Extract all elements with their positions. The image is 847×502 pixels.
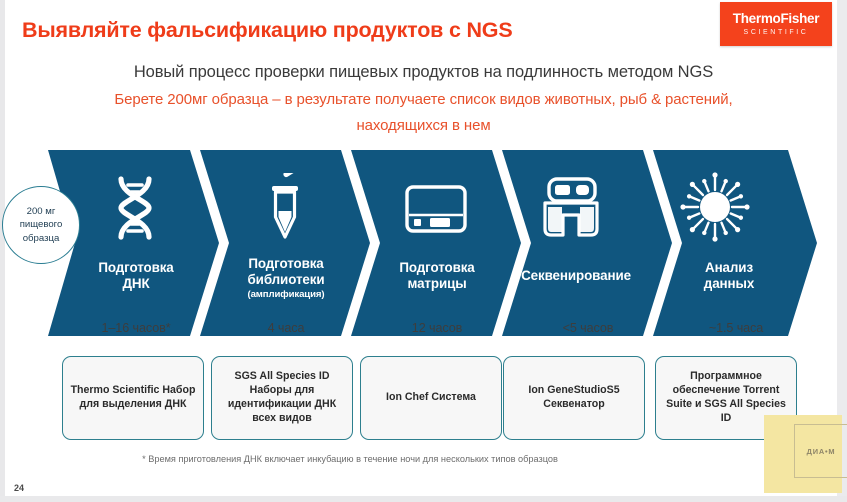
product-box-2[interactable]: SGS All Species ID Наборы для идентифика… bbox=[211, 356, 353, 440]
step-4-icon-wrap bbox=[534, 170, 608, 246]
test-tube-icon bbox=[263, 173, 307, 243]
lead-text-line-1: Берете 200мг образца – в результате полу… bbox=[0, 91, 847, 108]
step-1-label: Подготовка ДНК bbox=[76, 260, 196, 292]
step-1-label-line-1: Подготовка bbox=[98, 260, 173, 275]
watermark-text: ДИА•М bbox=[807, 447, 836, 456]
step-2-icon-wrap bbox=[252, 170, 318, 246]
step-3-label-line-2: матрицы bbox=[407, 276, 466, 291]
page-title: Выявляйте фальсификацию продуктов с NGS bbox=[22, 18, 512, 43]
step-5-label-line-2: данных bbox=[704, 276, 754, 291]
footnote: * Время приготовления ДНК включает инкуб… bbox=[0, 454, 700, 464]
step-2-label: Подготовка библиотеки (амплификация) bbox=[221, 256, 351, 300]
product-box-3[interactable]: Ion Chef Система bbox=[360, 356, 502, 440]
step-1-duration: 1–16 часов* bbox=[68, 321, 204, 335]
subtitle: Новый процесс проверки пищевых продуктов… bbox=[0, 63, 847, 82]
step-3-icon-wrap bbox=[400, 176, 472, 242]
dna-helix-icon bbox=[109, 175, 161, 241]
step-4-label: Секвенирование bbox=[506, 268, 646, 284]
page-number: 24 bbox=[14, 483, 24, 493]
sample-amount-badge: 200 мг пищевого образца bbox=[2, 186, 80, 264]
product-box-1-text: Thermo Scientific Набор для выделения ДН… bbox=[68, 384, 198, 412]
step-2-label-line-2: библиотеки bbox=[248, 272, 325, 287]
step-2-duration: 4 часа bbox=[218, 321, 354, 335]
chip-instrument-icon bbox=[405, 185, 467, 233]
step-2-label-sub: (амплификация) bbox=[221, 289, 351, 300]
step-5-duration: ~1.5 часа bbox=[668, 321, 804, 335]
product-box-2-text: SGS All Species ID Наборы для идентифика… bbox=[217, 370, 347, 426]
badge-line-1: 200 мг bbox=[27, 206, 56, 217]
slide-edge-bottom bbox=[0, 496, 847, 502]
step-5-label: Анализ данных bbox=[668, 260, 790, 292]
thermofisher-logo: ThermoFisher SCIENTIFIC bbox=[720, 2, 832, 46]
step-1-label-line-2: ДНК bbox=[122, 276, 149, 291]
step-4-duration: <5 часов bbox=[520, 321, 656, 335]
step-4-label-line-1: Секвенирование bbox=[521, 268, 631, 283]
badge-line-2: пищевого bbox=[20, 219, 63, 230]
product-box-4[interactable]: Ion GeneStudioS5 Секвенатор bbox=[503, 356, 645, 440]
step-1-icon-wrap bbox=[99, 170, 171, 246]
brand-name: ThermoFisher bbox=[733, 12, 819, 26]
badge-line-3: образца bbox=[23, 233, 60, 244]
sequencer-icon bbox=[541, 177, 601, 239]
process-flow-diagram: Подготовка ДНК Подготовка библиотеки (ам… bbox=[0, 148, 847, 338]
product-box-4-text: Ion GeneStudioS5 Секвенатор bbox=[509, 384, 639, 412]
step-2-label-line-1: Подготовка bbox=[248, 256, 323, 271]
step-3-duration: 12 часов bbox=[369, 321, 505, 335]
step-3-label-line-1: Подготовка bbox=[399, 260, 474, 275]
lead-text-line-2: находящихся в нем bbox=[0, 117, 847, 134]
data-burst-icon bbox=[679, 171, 751, 243]
sample-amount-badge-text: 200 мг пищевого образца bbox=[20, 205, 63, 245]
product-box-1[interactable]: Thermo Scientific Набор для выделения ДН… bbox=[62, 356, 204, 440]
step-3-label: Подготовка матрицы bbox=[376, 260, 498, 292]
brand-tagline: SCIENTIFIC bbox=[744, 29, 809, 36]
slide-canvas: ThermoFisher SCIENTIFIC Выявляйте фальси… bbox=[0, 0, 847, 502]
product-box-3-text: Ion Chef Система bbox=[386, 391, 476, 405]
watermark-logo: ДИА•М bbox=[794, 424, 847, 478]
step-5-label-line-1: Анализ bbox=[705, 260, 753, 275]
step-5-icon-wrap bbox=[676, 168, 754, 246]
